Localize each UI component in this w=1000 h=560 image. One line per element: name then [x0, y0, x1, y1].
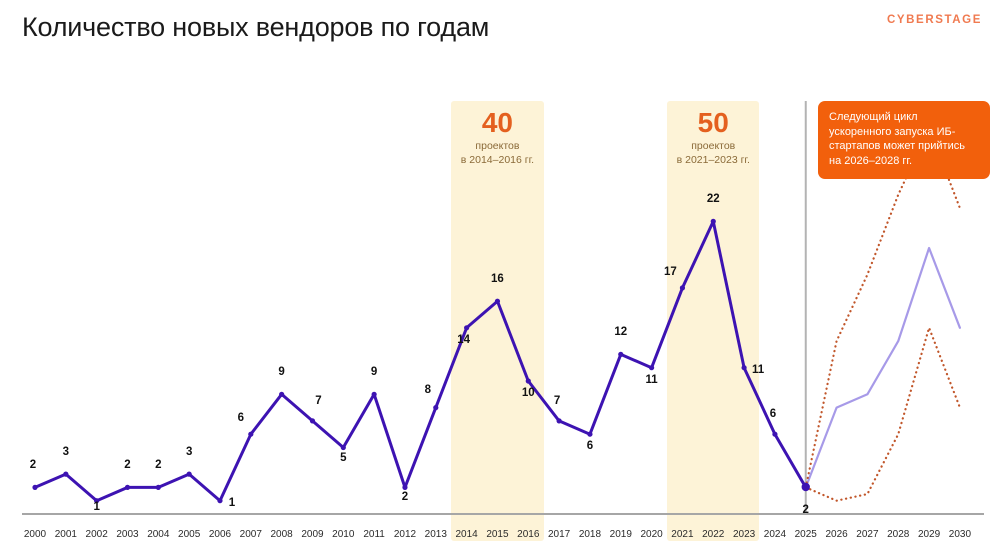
band-stat-line2: в 2014–2016 гг.	[461, 154, 534, 166]
value-label-2004: 2	[155, 459, 161, 471]
x-tick-2027: 2027	[856, 529, 878, 540]
x-tick-2017: 2017	[548, 529, 570, 540]
value-label-2021: 17	[664, 266, 677, 278]
x-tick-2015: 2015	[486, 529, 508, 540]
data-point-2007	[248, 432, 253, 437]
value-label-2020: 11	[646, 374, 658, 386]
x-tick-2013: 2013	[425, 529, 447, 540]
data-point-2024	[772, 432, 777, 437]
value-label-2011: 9	[371, 366, 377, 378]
data-point-2013	[433, 405, 438, 410]
x-tick-2030: 2030	[949, 529, 971, 540]
value-label-2003: 2	[124, 459, 130, 471]
value-label-2005: 3	[186, 446, 192, 458]
x-tick-2004: 2004	[147, 529, 169, 540]
band-stat-2014-2016: 40 проектов в 2014–2016 гг.	[437, 108, 557, 167]
x-tick-2024: 2024	[764, 529, 786, 540]
x-tick-2012: 2012	[394, 529, 416, 540]
band-stat-line1: проектов	[691, 140, 735, 152]
value-label-2023: 11	[752, 364, 764, 376]
value-label-2000: 2	[30, 459, 36, 471]
data-point-2015	[495, 299, 500, 304]
data-point-2011	[372, 392, 377, 397]
value-label-2012: 2	[402, 491, 408, 503]
x-tick-2010: 2010	[332, 529, 354, 540]
x-tick-2023: 2023	[733, 529, 755, 540]
value-label-2022: 22	[707, 193, 720, 205]
x-tick-2005: 2005	[178, 529, 200, 540]
data-point-2012	[402, 485, 407, 490]
band-stat-number: 50	[653, 108, 773, 137]
data-point-2020	[649, 365, 654, 370]
data-point-2021	[680, 285, 685, 290]
x-tick-2014: 2014	[455, 529, 477, 540]
value-label-2016: 10	[522, 387, 535, 399]
forecast-callout: Следующий цикл ускоренного запуска ИБ-ст…	[818, 101, 990, 179]
data-point-2008	[279, 392, 284, 397]
data-point-2006	[217, 498, 222, 503]
x-tick-2016: 2016	[517, 529, 539, 540]
x-tick-2003: 2003	[116, 529, 138, 540]
value-label-2010: 5	[340, 452, 346, 464]
value-label-2001: 3	[63, 446, 69, 458]
series-line-прогноз-—-нижняя-граница	[806, 328, 960, 501]
data-point-2017	[557, 418, 562, 423]
x-tick-2000: 2000	[24, 529, 46, 540]
data-point-2014	[464, 325, 469, 330]
value-label-2009: 7	[315, 395, 321, 407]
x-tick-2022: 2022	[702, 529, 724, 540]
value-label-2006: 1	[229, 497, 235, 509]
x-tick-2009: 2009	[301, 529, 323, 540]
x-tick-2002: 2002	[86, 529, 108, 540]
data-point-2004	[156, 485, 161, 490]
value-label-2008: 9	[278, 366, 284, 378]
band-stat-2021-2023: 50 проектов в 2021–2023 гг.	[653, 108, 773, 167]
x-tick-2028: 2028	[887, 529, 909, 540]
band-stat-number: 40	[437, 108, 557, 137]
data-point-2000	[32, 485, 37, 490]
value-label-2015: 16	[491, 273, 504, 285]
x-tick-2021: 2021	[671, 529, 693, 540]
series-line-прогноз-(центральный-сценарий)	[806, 248, 960, 487]
data-point-2018	[587, 432, 592, 437]
data-point-2019	[618, 352, 623, 357]
value-label-2013: 8	[425, 384, 431, 396]
value-label-2025: 2	[803, 504, 809, 516]
x-tick-2007: 2007	[240, 529, 262, 540]
value-label-2019: 12	[614, 326, 627, 338]
x-tick-2018: 2018	[579, 529, 601, 540]
data-point-2023	[741, 365, 746, 370]
data-point-2016	[526, 378, 531, 383]
x-tick-2019: 2019	[610, 529, 632, 540]
x-tick-2025: 2025	[795, 529, 817, 540]
data-point-2009	[310, 418, 315, 423]
data-point-2010	[341, 445, 346, 450]
marker-dot-2025	[802, 483, 810, 491]
series-line-новые-вендоры-(факт)	[35, 221, 806, 500]
data-point-2001	[63, 472, 68, 477]
value-label-2024: 6	[770, 408, 776, 420]
x-tick-2001: 2001	[55, 529, 77, 540]
x-tick-2029: 2029	[918, 529, 940, 540]
data-point-2005	[187, 472, 192, 477]
value-label-2007: 6	[238, 412, 244, 424]
x-tick-2008: 2008	[271, 529, 293, 540]
data-point-2003	[125, 485, 130, 490]
band-stat-line1: проектов	[475, 140, 519, 152]
x-tick-2006: 2006	[209, 529, 231, 540]
value-label-2002: 1	[93, 501, 99, 513]
chart-canvas: Количество новых вендоров по годам CYBER…	[0, 0, 1000, 560]
data-point-2022	[711, 219, 716, 224]
x-tick-2020: 2020	[640, 529, 662, 540]
value-label-2018: 6	[587, 440, 593, 452]
x-tick-2026: 2026	[825, 529, 847, 540]
value-label-2017: 7	[554, 395, 560, 407]
x-tick-2011: 2011	[363, 529, 385, 540]
band-stat-line2: в 2021–2023 гг.	[677, 154, 750, 166]
series-line-прогноз-—-верхняя-граница	[806, 128, 960, 487]
value-label-2014: 14	[457, 334, 470, 346]
